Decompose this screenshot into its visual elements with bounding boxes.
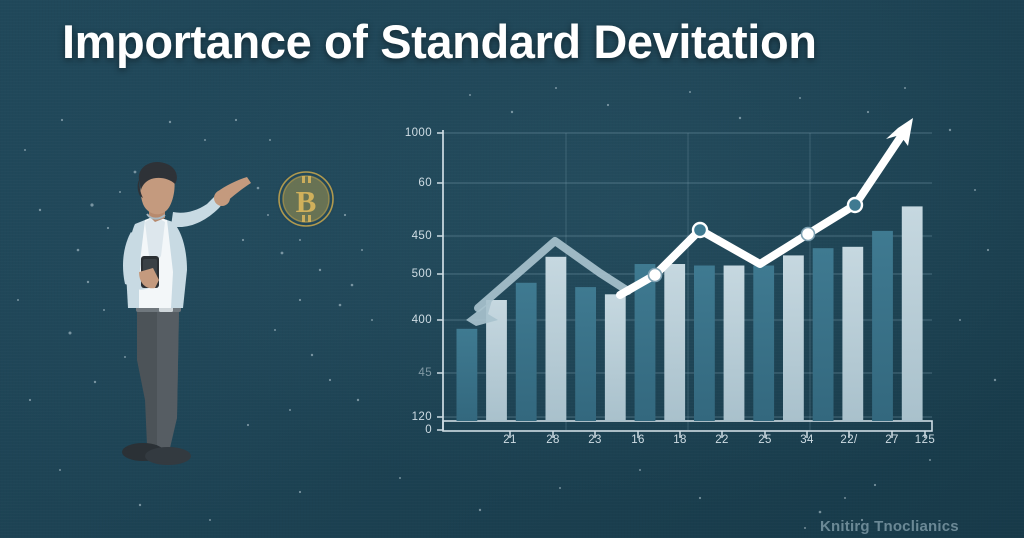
chart-bar: [575, 287, 596, 421]
bar-chart: [0, 0, 1024, 538]
poster-canvas: Importance of Standard Devitation: [0, 0, 1024, 538]
watermark-text: Knitirg Tnoclianics: [820, 518, 959, 535]
chart-y-ticks: [437, 133, 443, 430]
chart-bar: [664, 264, 685, 421]
chart-bar: [724, 266, 745, 422]
chart-bar: [605, 294, 626, 421]
chart-bar: [694, 266, 715, 422]
chart-bar: [813, 248, 834, 421]
chart-bar: [516, 283, 537, 421]
chart-bar: [546, 257, 567, 421]
chart-bar: [783, 255, 804, 421]
chart-bar: [753, 266, 774, 422]
chart-bar: [902, 206, 923, 421]
chart-bar: [872, 231, 893, 421]
chart-bar: [457, 329, 478, 421]
chart-bar: [842, 247, 863, 421]
chart-x-ticks: [510, 431, 925, 438]
